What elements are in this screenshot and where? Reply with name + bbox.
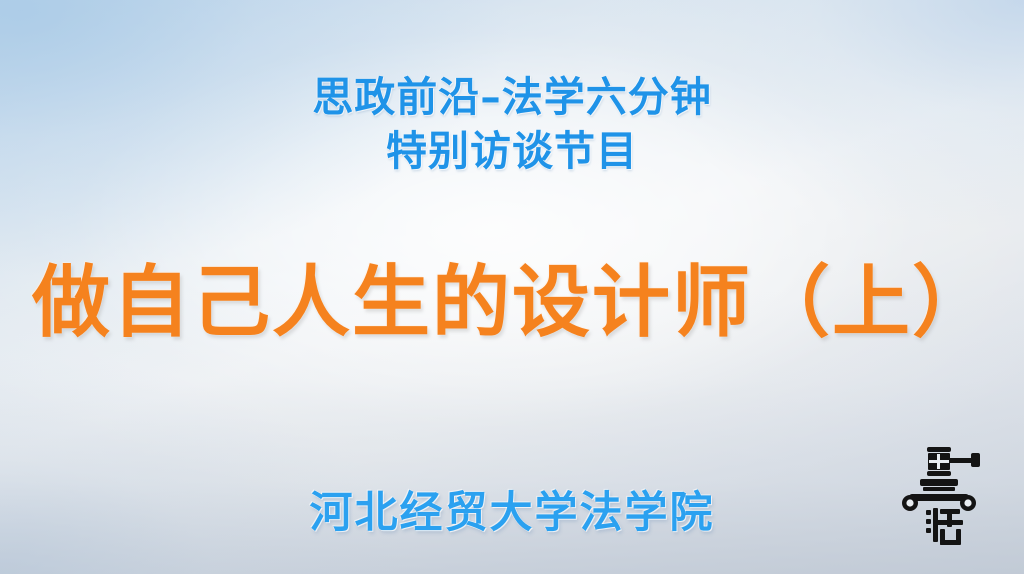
program-title-line-1: 思政前沿–法学六分钟: [312, 73, 712, 121]
episode-title: 做自己人生的设计师（上）: [0, 262, 1024, 345]
gavel-law-emblem-icon: [893, 437, 989, 547]
organization-name: 河北经贸大学法学院: [0, 478, 1024, 540]
program-title-line-2: 特别访谈节目: [0, 124, 1024, 178]
program-title: 思政前沿–法学六分钟 特别访谈节目: [0, 70, 1024, 178]
title-slide: 思政前沿–法学六分钟 特别访谈节目 做自己人生的设计师（上） 河北经贸大学法学院: [0, 0, 1024, 574]
